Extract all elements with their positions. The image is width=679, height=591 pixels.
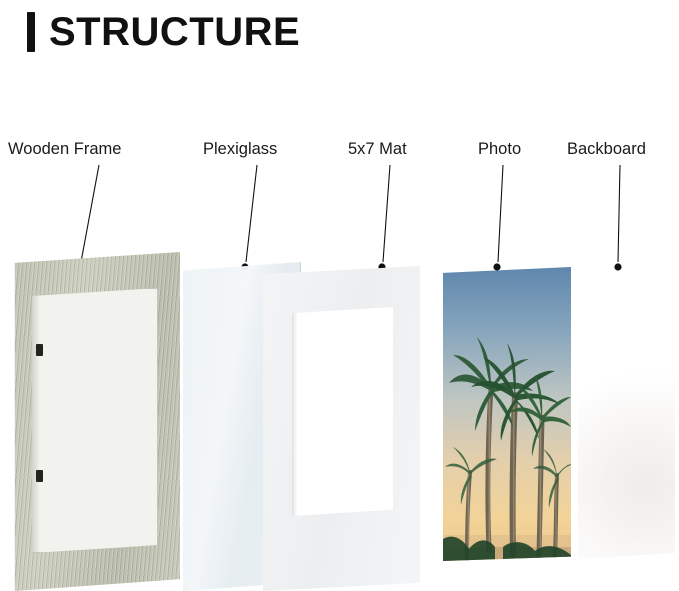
leader-wooden-frame (81, 165, 99, 262)
leader-photo (498, 165, 503, 262)
leader-dot-photo (493, 263, 500, 270)
layer-photo (443, 267, 571, 561)
mat-window-shadow (292, 307, 393, 516)
label-plexiglass: Plexiglass (203, 140, 277, 159)
label-photo: Photo (478, 140, 521, 159)
title-accent-bar (27, 12, 35, 52)
layer-backboard (578, 265, 675, 559)
page-title: STRUCTURE (49, 12, 300, 52)
label-wooden-frame: Wooden Frame (8, 140, 121, 159)
wooden-frame-opening-shadow (30, 288, 158, 553)
backboard-texture (578, 265, 675, 559)
leader-backboard (618, 165, 620, 262)
layer-wooden-frame (14, 252, 180, 591)
diagram-root: STRUCTURE Wooden Frame Plexiglass 5x7 Ma… (0, 0, 679, 591)
label-backboard: Backboard (567, 140, 646, 159)
photo-image (443, 267, 571, 561)
frame-clip-bottom-icon (36, 470, 43, 482)
leader-plexiglass (246, 165, 257, 262)
layer-mat (263, 266, 420, 591)
leader-mat (383, 165, 390, 262)
title-row: STRUCTURE (27, 8, 300, 56)
label-mat: 5x7 Mat (348, 140, 407, 159)
frame-clip-top-icon (36, 344, 43, 356)
